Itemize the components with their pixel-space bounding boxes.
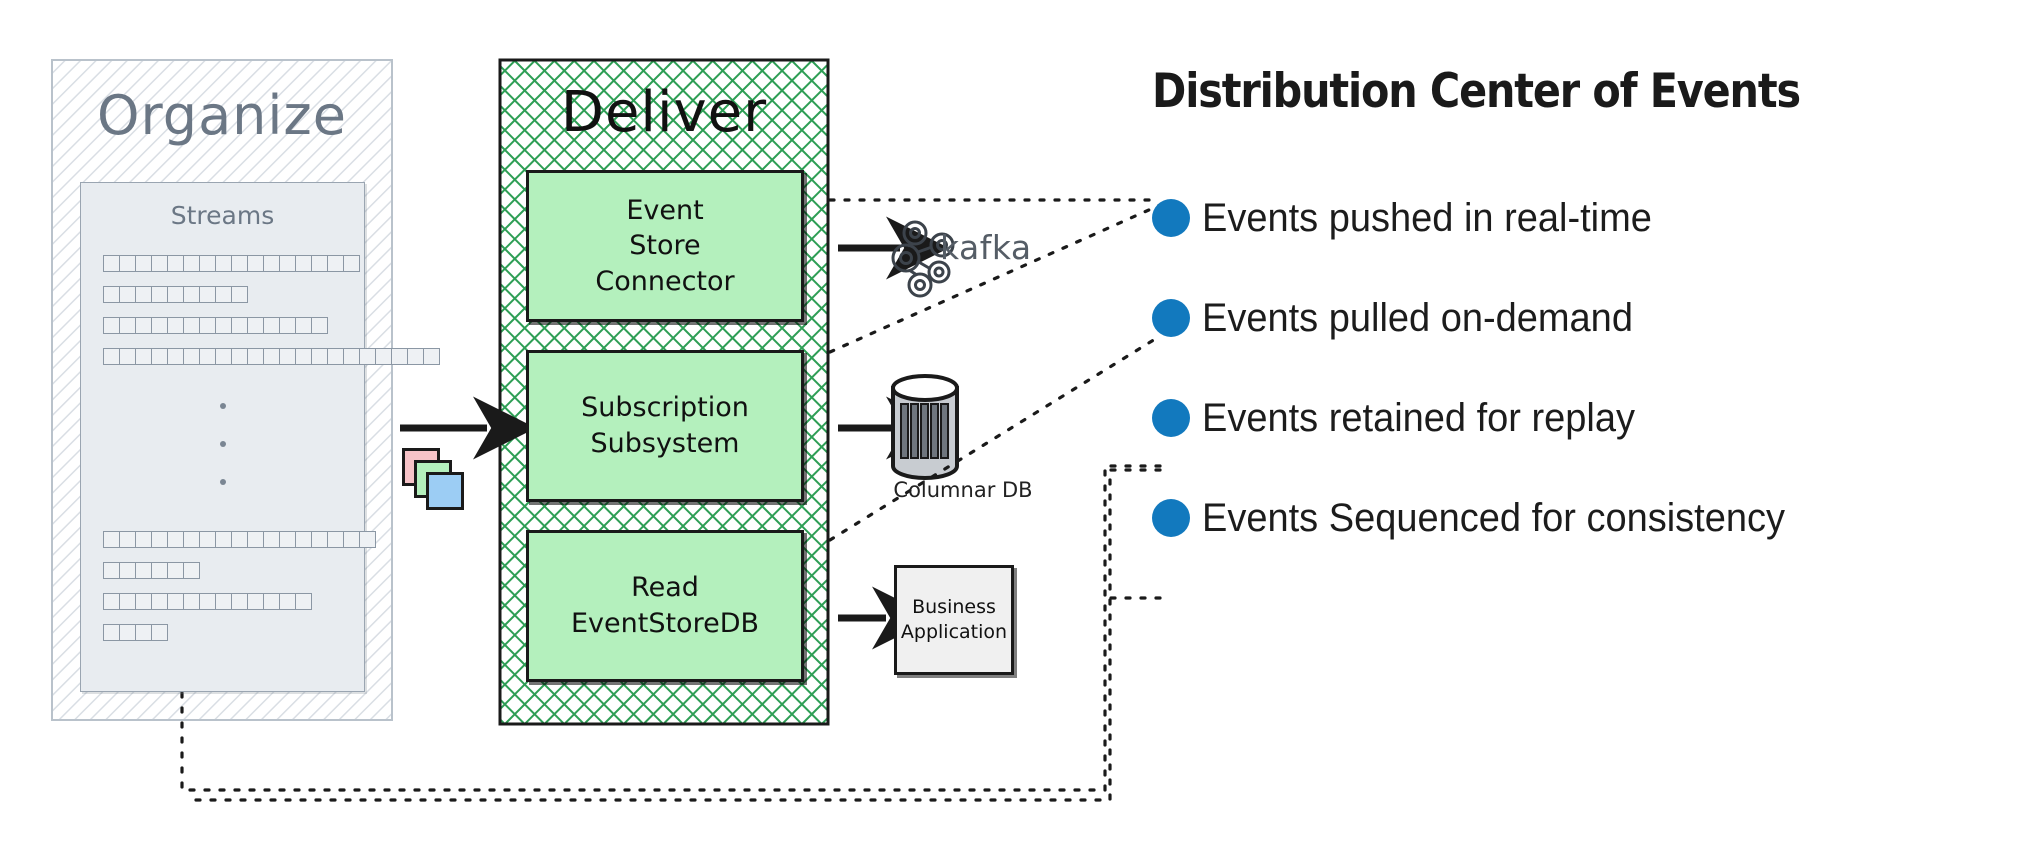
stream-cell xyxy=(231,317,248,334)
vertical-ellipsis xyxy=(81,403,364,517)
stream-cell xyxy=(215,255,232,272)
stream-cell xyxy=(423,348,440,365)
stream-cell xyxy=(327,255,344,272)
stream-cell xyxy=(215,531,232,548)
stream-cell xyxy=(263,255,280,272)
bullet-item-3: Events retained for replay xyxy=(1152,368,2012,468)
stream-cell xyxy=(263,531,280,548)
stream-cell xyxy=(359,348,376,365)
stream-cell xyxy=(247,255,264,272)
stream-cell xyxy=(247,531,264,548)
stream-cell xyxy=(215,348,232,365)
page-title: Distribution Center of Events xyxy=(1152,64,1891,119)
stream-cell xyxy=(247,593,264,610)
stream-cell xyxy=(231,255,248,272)
stream-cell xyxy=(295,348,312,365)
stream-cell xyxy=(119,624,136,641)
stream-row xyxy=(103,317,327,334)
stream-cell xyxy=(103,348,120,365)
stream-cell xyxy=(103,317,120,334)
stream-cell xyxy=(215,593,232,610)
stream-cell xyxy=(199,531,216,548)
stream-cell xyxy=(247,317,264,334)
stream-cell xyxy=(391,348,408,365)
dotted-connector-to-bullet-3 xyxy=(830,336,1160,540)
stream-cell xyxy=(151,593,168,610)
stream-cell xyxy=(183,348,200,365)
event-store-connector-label: Event Store Connector xyxy=(595,193,734,300)
stream-cell xyxy=(183,255,200,272)
subscription-subsystem-label: Subscription Subsystem xyxy=(581,390,749,461)
stream-cell xyxy=(135,255,152,272)
stream-cell xyxy=(151,624,168,641)
bullet-list: Events pushed in real-timeEvents pulled … xyxy=(1152,168,2012,568)
stream-cell xyxy=(199,317,216,334)
stream-cell xyxy=(407,348,424,365)
stream-cell xyxy=(247,348,264,365)
business-application-label: Business Application xyxy=(901,595,1007,644)
read-eventstoredb-label: Read EventStoreDB xyxy=(571,570,759,641)
stream-cell xyxy=(215,317,232,334)
deliver-panel: Deliver Event Store Connector Subscripti… xyxy=(498,58,830,726)
ellipsis-dot xyxy=(220,441,226,447)
streams-box: Streams xyxy=(80,182,365,692)
stream-cell xyxy=(103,286,120,303)
stream-cell xyxy=(167,317,184,334)
bullet-item-2: Events pulled on-demand xyxy=(1152,268,2012,368)
stream-cell xyxy=(295,593,312,610)
stream-cell xyxy=(375,348,392,365)
stream-cell xyxy=(151,562,168,579)
stream-cell xyxy=(343,531,360,548)
stream-cell xyxy=(183,562,200,579)
bullet-label: Events pulled on-demand xyxy=(1202,296,1633,341)
stream-cell xyxy=(183,593,200,610)
stream-row xyxy=(103,593,311,610)
bullet-label: Events Sequenced for consistency xyxy=(1202,496,1785,541)
stream-cell xyxy=(199,255,216,272)
stream-cell xyxy=(119,348,136,365)
stream-cell xyxy=(151,348,168,365)
stream-cell xyxy=(103,624,120,641)
stream-cell xyxy=(135,286,152,303)
stream-cell xyxy=(103,562,120,579)
bullet-label: Events retained for replay xyxy=(1202,396,1635,441)
stream-cell xyxy=(167,531,184,548)
stream-cell xyxy=(295,531,312,548)
stream-cell xyxy=(135,593,152,610)
stream-cell xyxy=(327,531,344,548)
stream-cell xyxy=(279,348,296,365)
ellipsis-dot xyxy=(220,479,226,485)
stream-cell xyxy=(167,562,184,579)
read-eventstoredb-box[interactable]: Read EventStoreDB xyxy=(526,530,804,682)
stream-cell xyxy=(119,593,136,610)
stream-cell xyxy=(103,531,120,548)
stream-cell xyxy=(183,531,200,548)
stream-cell xyxy=(167,593,184,610)
bullet-item-4: Events Sequenced for consistency xyxy=(1152,468,2012,568)
stream-row xyxy=(103,255,359,272)
organize-title: Organize xyxy=(52,84,392,147)
stream-cell xyxy=(167,255,184,272)
stream-cell xyxy=(311,317,328,334)
stream-cell xyxy=(279,255,296,272)
stream-cell xyxy=(119,286,136,303)
bullet-dot-icon xyxy=(1152,399,1190,437)
stream-cell xyxy=(199,286,216,303)
stream-row xyxy=(103,286,247,303)
stream-cell xyxy=(279,531,296,548)
stream-cell xyxy=(311,255,328,272)
stream-row xyxy=(103,531,375,548)
stream-cell xyxy=(151,286,168,303)
stream-row xyxy=(103,624,167,641)
stream-cell xyxy=(199,348,216,365)
ellipsis-dot xyxy=(220,403,226,409)
stream-row xyxy=(103,562,199,579)
stream-cell xyxy=(263,348,280,365)
bullet-dot-icon xyxy=(1152,199,1190,237)
stream-cell xyxy=(167,286,184,303)
organize-panel: Organize Streams xyxy=(52,60,392,720)
bullet-label: Events pushed in real-time xyxy=(1202,196,1652,241)
columnar-db-label: Columnar DB xyxy=(868,478,1058,502)
stream-cell xyxy=(199,593,216,610)
stream-cell xyxy=(311,348,328,365)
bullet-dot-icon xyxy=(1152,499,1190,537)
bullet-item-1: Events pushed in real-time xyxy=(1152,168,2012,268)
stream-cell xyxy=(311,531,328,548)
stream-cell xyxy=(279,317,296,334)
bullet-dot-icon xyxy=(1152,299,1190,337)
stream-cell xyxy=(231,531,248,548)
stream-cell xyxy=(119,255,136,272)
stream-cell xyxy=(151,255,168,272)
stream-cell xyxy=(151,531,168,548)
stream-cell xyxy=(167,348,184,365)
subscription-subsystem-box[interactable]: Subscription Subsystem xyxy=(526,350,804,502)
stream-cell xyxy=(279,593,296,610)
stream-cell xyxy=(231,593,248,610)
stream-cell xyxy=(151,317,168,334)
stream-cell xyxy=(359,531,376,548)
streams-title: Streams xyxy=(81,201,364,230)
stream-cell xyxy=(103,255,120,272)
stream-cell xyxy=(343,255,360,272)
stream-cell xyxy=(119,317,136,334)
stream-cell xyxy=(231,286,248,303)
stream-cell xyxy=(135,562,152,579)
stream-cell xyxy=(103,593,120,610)
stream-row xyxy=(103,348,439,365)
stream-cell xyxy=(119,531,136,548)
diagram-canvas: Organize Streams Deliver Event Store Con… xyxy=(0,0,2020,850)
stream-cell xyxy=(135,624,152,641)
stream-cell xyxy=(231,348,248,365)
stream-cell xyxy=(263,317,280,334)
stream-cell xyxy=(263,593,280,610)
kafka-label: kafka xyxy=(940,228,1032,267)
stream-cell xyxy=(327,348,344,365)
card-blue xyxy=(426,472,464,510)
stacked-cards-icon xyxy=(402,448,468,510)
stream-cell xyxy=(183,317,200,334)
stream-cell xyxy=(135,317,152,334)
stream-cell xyxy=(119,562,136,579)
right-column: Distribution Center of Events xyxy=(1152,64,1992,119)
stream-cell xyxy=(183,286,200,303)
stream-cell xyxy=(343,348,360,365)
event-store-connector-box[interactable]: Event Store Connector xyxy=(526,170,804,322)
stream-cell xyxy=(295,255,312,272)
database-cylinder-icon xyxy=(893,376,957,478)
stream-cell xyxy=(135,531,152,548)
stream-cell xyxy=(295,317,312,334)
business-application-box[interactable]: Business Application xyxy=(894,565,1014,675)
deliver-title: Deliver xyxy=(498,80,830,145)
stream-cell xyxy=(135,348,152,365)
stream-cell xyxy=(215,286,232,303)
